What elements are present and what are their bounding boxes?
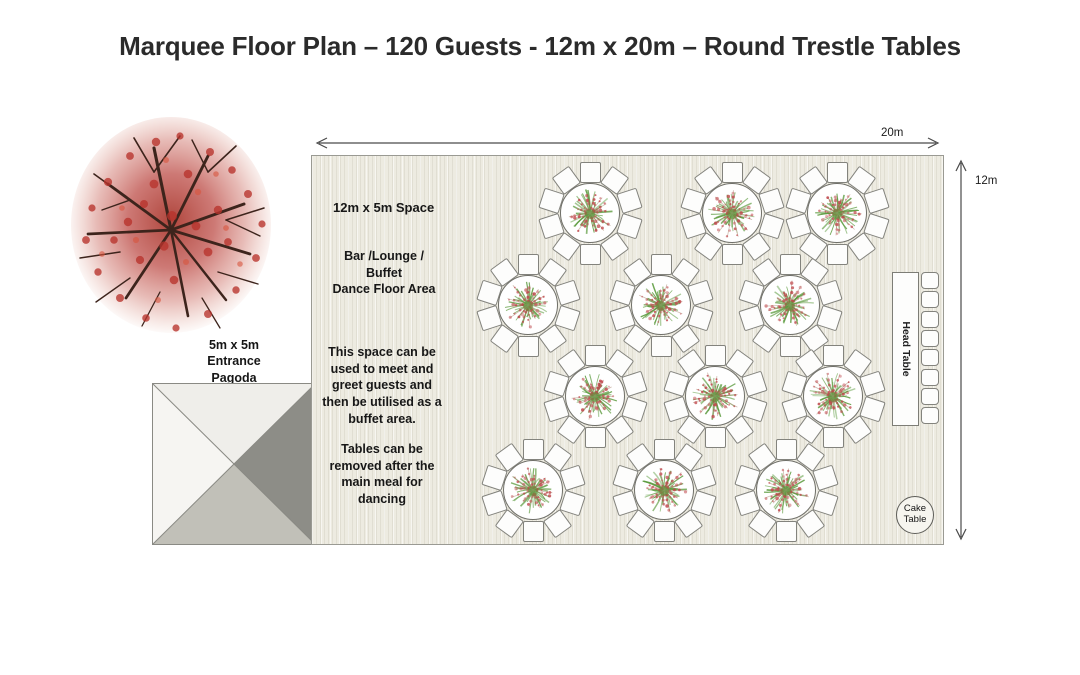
width-dimension-arrow	[311, 136, 944, 150]
dancing-note: Tables can be removed after the main mea…	[323, 441, 441, 508]
table-top	[702, 183, 762, 243]
head-table-chair	[921, 291, 939, 308]
head-table-chair	[921, 349, 939, 366]
chair	[776, 521, 797, 542]
chair	[585, 427, 606, 448]
chair	[580, 244, 601, 265]
round-table[interactable]	[477, 254, 577, 354]
chair	[585, 345, 606, 366]
table-top	[760, 275, 820, 335]
round-table[interactable]	[739, 254, 839, 354]
head-table-chair	[921, 388, 939, 405]
table-top	[503, 460, 563, 520]
chair	[518, 336, 539, 357]
height-dimension-arrow	[953, 155, 969, 545]
pagoda-size: 5m x 5m	[160, 337, 308, 353]
round-table[interactable]	[664, 345, 764, 445]
round-table[interactable]	[613, 439, 713, 539]
cake-table[interactable]: Cake Table	[896, 496, 934, 534]
chair	[523, 439, 544, 460]
round-table[interactable]	[782, 345, 882, 445]
head-table-chair	[921, 330, 939, 347]
round-table[interactable]	[610, 254, 710, 354]
cake-table-line2: Table	[904, 515, 927, 526]
chair	[780, 254, 801, 275]
page-title: Marquee Floor Plan – 120 Guests - 12m x …	[0, 31, 1080, 62]
chair	[580, 162, 601, 183]
head-table-chair	[921, 272, 939, 289]
table-top	[803, 366, 863, 426]
space-usage-label: Bar /Lounge / Buffet Dance Floor Area	[325, 248, 443, 298]
round-table[interactable]	[786, 162, 886, 262]
head-table-chair	[921, 311, 939, 328]
table-top	[634, 460, 694, 520]
chair	[776, 439, 797, 460]
table-top	[565, 366, 625, 426]
width-dimension-label: 20m	[881, 127, 903, 139]
space-usage-line1: Bar /Lounge / Buffet	[325, 248, 443, 281]
height-dimension-label: 12m	[975, 175, 997, 187]
chair	[523, 521, 544, 542]
table-top	[498, 275, 558, 335]
space-size-label: 12m x 5m Space	[333, 199, 434, 216]
chair	[823, 345, 844, 366]
table-top	[631, 275, 691, 335]
round-table[interactable]	[482, 439, 582, 539]
chair	[722, 162, 743, 183]
chair	[654, 439, 675, 460]
chair	[705, 345, 726, 366]
tree-illustration	[68, 112, 273, 344]
head-table-label: Head Table	[900, 321, 912, 376]
round-table[interactable]	[539, 162, 639, 262]
round-table[interactable]	[544, 345, 644, 445]
chair	[827, 162, 848, 183]
table-top	[560, 183, 620, 243]
pagoda-label: 5m x 5m Entrance Pagoda	[160, 337, 308, 386]
space-usage-line2: Dance Floor Area	[325, 281, 443, 298]
floor-plan-canvas: Marquee Floor Plan – 120 Guests - 12m x …	[0, 0, 1080, 675]
head-table-chair	[921, 369, 939, 386]
meet-greet-note: This space can be used to meet and greet…	[321, 344, 443, 427]
table-top	[756, 460, 816, 520]
head-table[interactable]: Head Table	[892, 272, 919, 426]
chair	[518, 254, 539, 275]
chair	[651, 254, 672, 275]
table-top	[807, 183, 867, 243]
round-table[interactable]	[735, 439, 835, 539]
table-top	[685, 366, 745, 426]
pagoda-entrance-text: Entrance	[160, 353, 308, 369]
chair	[654, 521, 675, 542]
round-table[interactable]	[681, 162, 781, 262]
head-table-chair	[921, 407, 939, 424]
entrance-pagoda	[152, 383, 316, 545]
